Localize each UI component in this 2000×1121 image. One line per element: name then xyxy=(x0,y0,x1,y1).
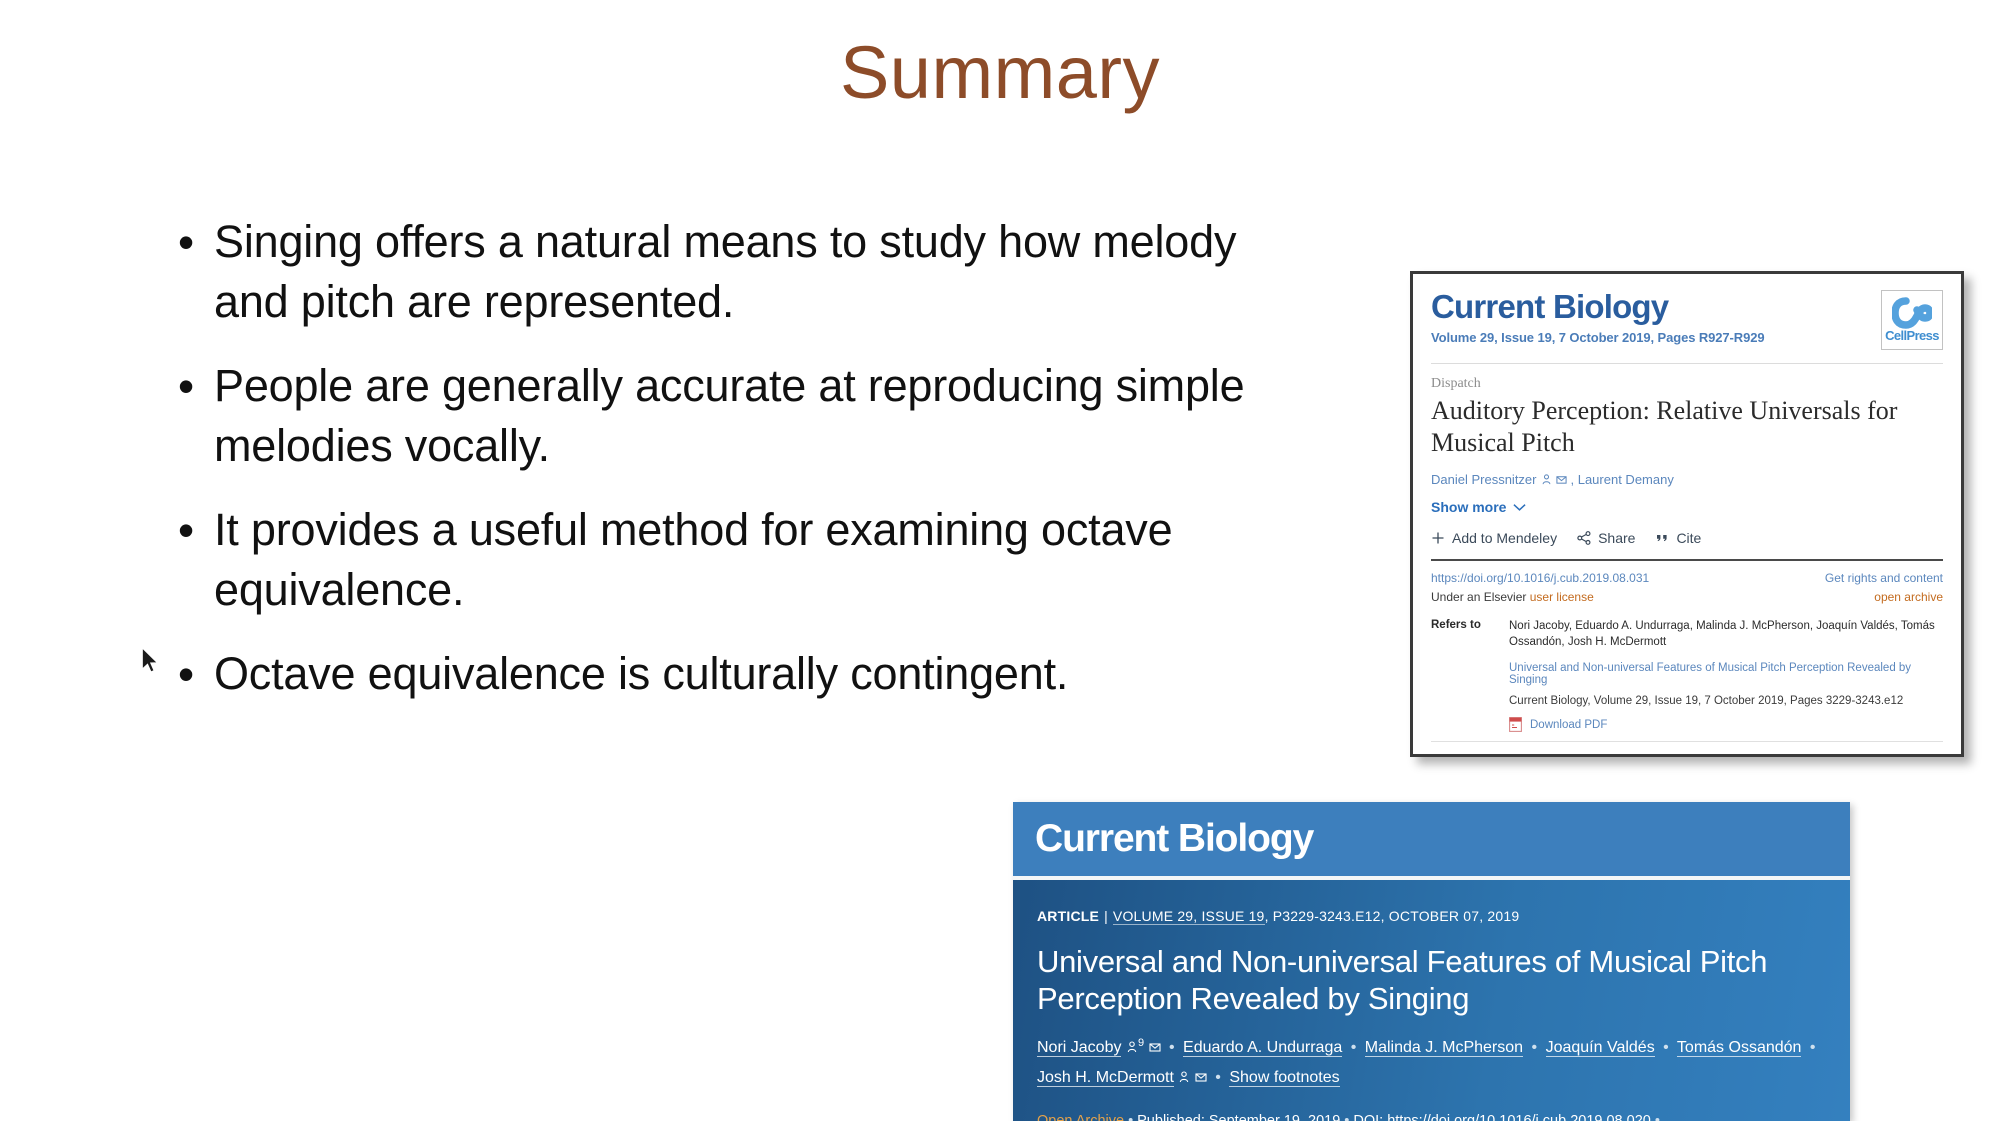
journal-name: Current Biology xyxy=(1431,290,1764,325)
cell-article-card[interactable]: Current Biology ARTICLE|VOLUME 29, ISSUE… xyxy=(1013,802,1850,1121)
list-item: • It provides a useful method for examin… xyxy=(178,500,1288,620)
list-item: • People are generally accurate at repro… xyxy=(178,356,1288,476)
author-name[interactable]: Daniel Pressnitzer xyxy=(1431,472,1537,487)
author-separator: • xyxy=(1528,1039,1542,1056)
author-separator: • xyxy=(1659,1039,1673,1056)
cell-article-body: ARTICLE|VOLUME 29, ISSUE 19, P3229-3243.… xyxy=(1013,880,1850,1121)
kicker-volume[interactable]: VOLUME 29, ISSUE 19 xyxy=(1113,908,1265,925)
list-item: • Singing offers a natural means to stud… xyxy=(178,212,1288,332)
show-more-button[interactable]: Show more xyxy=(1431,499,1943,515)
download-pdf-button[interactable]: Download PDF xyxy=(1509,717,1943,732)
bullet-list: • Singing offers a natural means to stud… xyxy=(178,212,1288,728)
author-footnote-marker: 9 xyxy=(1138,1037,1144,1049)
author-separator: • xyxy=(1347,1039,1361,1056)
list-item: • Octave equivalence is culturally conti… xyxy=(178,644,1288,704)
user-license-link[interactable]: user license xyxy=(1530,590,1594,604)
get-rights-link[interactable]: Get rights and content xyxy=(1825,571,1943,585)
pdf-file-icon xyxy=(1509,717,1522,732)
envelope-icon[interactable] xyxy=(1149,1041,1161,1053)
refers-authors: Nori Jacoby, Eduardo A. Undurraga, Malin… xyxy=(1509,619,1943,651)
journal-issue-line: Volume 29, Issue 19, 7 October 2019, Pag… xyxy=(1431,330,1764,345)
bullet-marker-icon: • xyxy=(178,500,214,560)
license-prefix: Under an Elsevier xyxy=(1431,590,1530,604)
author-separator: • xyxy=(1211,1069,1225,1086)
show-footnotes-link[interactable]: Show footnotes xyxy=(1229,1069,1339,1087)
divider xyxy=(1431,363,1943,364)
chevron-down-icon xyxy=(1513,503,1526,512)
envelope-icon[interactable] xyxy=(1556,474,1567,485)
cell-header-band: Current Biology xyxy=(1013,802,1850,876)
download-pdf-label: Download PDF xyxy=(1530,719,1607,731)
add-to-mendeley-button[interactable]: Add to Mendeley xyxy=(1431,530,1557,546)
author-name[interactable]: Joaquín Valdés xyxy=(1546,1039,1655,1057)
open-archive-link[interactable]: open archive xyxy=(1874,590,1943,604)
doi-link[interactable]: https://doi.org/10.1016/j.cub.2019.08.03… xyxy=(1431,571,1649,585)
add-to-mendeley-label: Add to Mendeley xyxy=(1452,530,1557,546)
person-icon[interactable] xyxy=(1178,1071,1190,1083)
divider-bottom xyxy=(1431,741,1943,742)
license-row: Under an Elsevier user license open arch… xyxy=(1431,590,1943,604)
author-name[interactable]: Nori Jacoby xyxy=(1037,1039,1121,1057)
cellpress-logo[interactable]: CellPress xyxy=(1881,290,1943,350)
doi-row: https://doi.org/10.1016/j.cub.2019.08.03… xyxy=(1431,571,1943,585)
bullet-text: Singing offers a natural means to study … xyxy=(214,212,1288,332)
meta-separator: • xyxy=(1124,1113,1137,1121)
bullet-marker-icon: • xyxy=(178,644,214,704)
author-name-2[interactable]: , Laurent Demany xyxy=(1571,472,1674,487)
cellpress-wordmark: CellPress xyxy=(1885,328,1939,343)
author-name[interactable]: Eduardo A. Undurraga xyxy=(1183,1039,1342,1057)
cellpress-logo-icon xyxy=(1892,297,1932,329)
article-actions[interactable]: Add to Mendeley Share Cite xyxy=(1431,530,1943,546)
sciencedirect-article-card[interactable]: Current Biology Volume 29, Issue 19, 7 O… xyxy=(1410,271,1964,757)
cite-button[interactable]: Cite xyxy=(1655,530,1701,546)
refers-to-label: Refers to xyxy=(1431,619,1509,732)
author-name[interactable]: Josh H. McDermott xyxy=(1037,1069,1174,1087)
author-name[interactable]: Tomás Ossandón xyxy=(1677,1039,1802,1057)
article-title[interactable]: Universal and Non-universal Features of … xyxy=(1037,944,1826,1017)
show-more-label: Show more xyxy=(1431,499,1506,515)
article-kicker: ARTICLE|VOLUME 29, ISSUE 19, P3229-3243.… xyxy=(1037,908,1826,924)
article-type-label: Dispatch xyxy=(1431,376,1943,392)
bullet-marker-icon: • xyxy=(178,356,214,416)
share-icon xyxy=(1577,531,1591,545)
plus-icon xyxy=(1431,531,1445,545)
bullet-marker-icon: • xyxy=(178,212,214,272)
kicker-separator: | xyxy=(1099,908,1113,924)
share-button[interactable]: Share xyxy=(1577,530,1635,546)
bullet-text: People are generally accurate at reprodu… xyxy=(214,356,1288,476)
meta-separator: • xyxy=(1340,1113,1353,1121)
kicker-type: ARTICLE xyxy=(1037,908,1099,924)
author-separator: • xyxy=(1806,1039,1820,1056)
quote-icon xyxy=(1655,531,1669,545)
article-title[interactable]: Auditory Perception: Relative Universals… xyxy=(1431,395,1943,458)
refers-to-section: Refers to Nori Jacoby, Eduardo A. Undurr… xyxy=(1431,619,1943,732)
envelope-icon[interactable] xyxy=(1195,1071,1207,1083)
open-archive-badge[interactable]: Open Archive xyxy=(1037,1113,1124,1121)
refers-source: Current Biology, Volume 29, Issue 19, 7 … xyxy=(1509,695,1943,707)
share-label: Share xyxy=(1598,530,1635,546)
bullet-text: Octave equivalence is culturally conting… xyxy=(214,644,1288,704)
author-name[interactable]: Malinda J. McPherson xyxy=(1365,1039,1523,1057)
journal-masthead: Current Biology Volume 29, Issue 19, 7 O… xyxy=(1431,290,1943,350)
author-separator: • xyxy=(1165,1039,1179,1056)
cell-journal-name: Current Biology xyxy=(1035,817,1313,861)
publication-meta: Open Archive•Published: September 19, 20… xyxy=(1037,1113,1826,1121)
author-list[interactable]: Nori Jacoby 9 • Eduardo A. Undurraga • M… xyxy=(1037,1033,1826,1093)
published-date: Published: September 19, 2019 xyxy=(1137,1113,1340,1121)
mouse-pointer-icon xyxy=(142,648,160,674)
doi-text[interactable]: DOI: https://doi.org/10.1016/j.cub.2019.… xyxy=(1353,1113,1650,1121)
cite-label: Cite xyxy=(1676,530,1701,546)
person-icon[interactable] xyxy=(1126,1041,1138,1053)
bullet-text: It provides a useful method for examinin… xyxy=(214,500,1288,620)
person-icon[interactable] xyxy=(1541,474,1552,485)
divider-heavy xyxy=(1431,559,1943,561)
meta-separator: • xyxy=(1651,1113,1664,1121)
author-line[interactable]: Daniel Pressnitzer , Laurent Demany xyxy=(1431,472,1943,487)
page-title: Summary xyxy=(0,32,2000,113)
presentation-slide: Summary • Singing offers a natural means… xyxy=(0,0,2000,1121)
refers-title-link[interactable]: Universal and Non-universal Features of … xyxy=(1509,662,1943,686)
kicker-rest: , P3229-3243.E12, OCTOBER 07, 2019 xyxy=(1265,908,1520,924)
